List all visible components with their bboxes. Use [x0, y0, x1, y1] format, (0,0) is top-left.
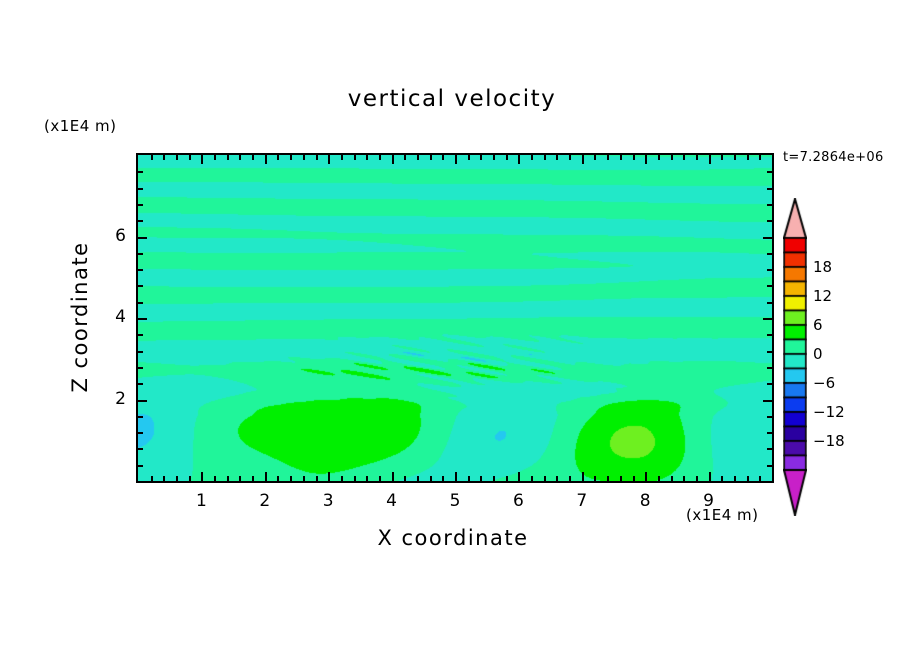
x-minor-tick	[227, 476, 229, 481]
vertical-velocity-field	[138, 155, 772, 481]
x-tick-label: 7	[562, 491, 602, 511]
x-minor-tick-top	[442, 155, 444, 160]
x-minor-tick-top	[163, 155, 165, 160]
y-minor-tick-right	[767, 416, 772, 418]
x-minor-tick-top	[759, 155, 761, 160]
colorbar-tick-label: −12	[813, 403, 845, 421]
x-minor-tick-top	[430, 155, 432, 160]
x-minor-tick-top	[354, 155, 356, 160]
y-minor-tick	[138, 204, 143, 206]
colorbar-tick-label: −6	[813, 374, 835, 392]
y-minor-tick-right	[767, 302, 772, 304]
x-minor-tick	[556, 476, 558, 481]
x-minor-tick	[594, 476, 596, 481]
x-minor-tick	[379, 476, 381, 481]
y-minor-tick	[138, 351, 143, 353]
x-minor-tick-top	[214, 155, 216, 160]
y-minor-tick	[138, 302, 143, 304]
x-axis-unit-label: (x1E4 m)	[686, 506, 759, 524]
x-minor-tick-top	[734, 155, 736, 160]
x-minor-tick	[151, 476, 153, 481]
x-minor-tick-top	[696, 155, 698, 160]
x-minor-tick	[430, 476, 432, 481]
y-minor-tick	[138, 334, 143, 336]
x-minor-tick-top	[607, 155, 609, 160]
x-minor-tick-top	[506, 155, 508, 160]
x-minor-tick	[239, 476, 241, 481]
y-minor-tick	[138, 465, 143, 467]
x-minor-tick	[671, 476, 673, 481]
x-minor-tick-top	[544, 155, 546, 160]
x-minor-tick-top	[658, 155, 660, 160]
x-minor-tick-top	[404, 155, 406, 160]
colorbar[interactable]	[783, 198, 807, 516]
y-minor-tick	[138, 188, 143, 190]
x-minor-tick	[316, 476, 318, 481]
x-minor-tick	[493, 476, 495, 481]
x-tick-label: 2	[245, 491, 285, 511]
x-minor-tick-top	[316, 155, 318, 160]
x-minor-tick-top	[341, 155, 343, 160]
x-minor-tick-top	[290, 155, 292, 160]
x-minor-tick	[721, 476, 723, 481]
x-minor-tick	[404, 476, 406, 481]
x-minor-tick	[569, 476, 571, 481]
x-minor-tick	[354, 476, 356, 481]
x-minor-tick-top	[671, 155, 673, 160]
x-minor-tick	[658, 476, 660, 481]
y-minor-tick	[138, 367, 143, 369]
x-tick-label: 3	[308, 491, 348, 511]
x-minor-tick	[759, 476, 761, 481]
y-minor-tick	[138, 448, 143, 450]
colorbar-tick-label: −18	[813, 432, 845, 450]
y-major-tick-right	[763, 237, 772, 239]
x-minor-tick-top	[277, 155, 279, 160]
colorbar-gradient	[783, 198, 807, 516]
x-tick-label: 5	[435, 491, 475, 511]
y-axis-title: Z coordinate	[68, 207, 92, 427]
x-minor-tick-top	[747, 155, 749, 160]
x-minor-tick	[480, 476, 482, 481]
x-minor-tick	[303, 476, 305, 481]
x-major-tick-top	[265, 155, 267, 164]
x-minor-tick	[366, 476, 368, 481]
y-major-tick	[138, 237, 147, 239]
colorbar-tick-label: 12	[813, 287, 832, 305]
x-major-tick-top	[201, 155, 203, 164]
y-major-tick-right	[763, 318, 772, 320]
x-axis-title: X coordinate	[136, 526, 770, 550]
x-major-tick-top	[645, 155, 647, 164]
y-major-tick	[138, 318, 147, 320]
x-major-tick	[265, 472, 267, 481]
figure-root: vertical velocity (x1E4 m) t=7.2864e+06 …	[0, 0, 904, 654]
x-minor-tick	[176, 476, 178, 481]
x-minor-tick-top	[227, 155, 229, 160]
x-tick-label: 1	[181, 491, 221, 511]
y-tick-label: 4	[86, 307, 126, 327]
x-minor-tick	[290, 476, 292, 481]
x-minor-tick	[620, 476, 622, 481]
x-minor-tick-top	[303, 155, 305, 160]
x-minor-tick-top	[252, 155, 254, 160]
x-minor-tick-top	[151, 155, 153, 160]
y-minor-tick	[138, 432, 143, 434]
x-minor-tick-top	[379, 155, 381, 160]
x-minor-tick-top	[569, 155, 571, 160]
x-minor-tick-top	[493, 155, 495, 160]
x-major-tick	[709, 472, 711, 481]
x-minor-tick-top	[189, 155, 191, 160]
x-major-tick-top	[518, 155, 520, 164]
y-minor-tick-right	[767, 432, 772, 434]
x-minor-tick-top	[531, 155, 533, 160]
x-minor-tick-top	[176, 155, 178, 160]
y-tick-label: 2	[86, 389, 126, 409]
x-minor-tick-top	[594, 155, 596, 160]
y-minor-tick	[138, 416, 143, 418]
x-major-tick	[455, 472, 457, 481]
x-major-tick	[582, 472, 584, 481]
x-minor-tick	[442, 476, 444, 481]
time-annotation: t=7.2864e+06	[783, 150, 884, 165]
x-major-tick	[328, 472, 330, 481]
colorbar-tick-label: 18	[813, 258, 832, 276]
x-major-tick	[645, 472, 647, 481]
y-major-tick-right	[763, 400, 772, 402]
x-major-tick	[201, 472, 203, 481]
x-minor-tick	[417, 476, 419, 481]
x-minor-tick-top	[721, 155, 723, 160]
y-minor-tick-right	[767, 367, 772, 369]
y-minor-tick-right	[767, 204, 772, 206]
y-minor-tick-right	[767, 285, 772, 287]
x-minor-tick-top	[239, 155, 241, 160]
x-minor-tick	[341, 476, 343, 481]
y-minor-tick	[138, 285, 143, 287]
x-minor-tick	[544, 476, 546, 481]
x-minor-tick	[163, 476, 165, 481]
x-minor-tick	[531, 476, 533, 481]
x-minor-tick-top	[620, 155, 622, 160]
x-minor-tick	[214, 476, 216, 481]
y-minor-tick	[138, 220, 143, 222]
x-minor-tick-top	[417, 155, 419, 160]
x-major-tick-top	[582, 155, 584, 164]
y-major-tick	[138, 400, 147, 402]
x-minor-tick	[633, 476, 635, 481]
y-tick-label: 6	[86, 226, 126, 246]
y-minor-tick-right	[767, 220, 772, 222]
x-major-tick	[518, 472, 520, 481]
x-minor-tick-top	[633, 155, 635, 160]
x-major-tick-top	[392, 155, 394, 164]
x-minor-tick	[468, 476, 470, 481]
x-minor-tick-top	[683, 155, 685, 160]
y-minor-tick-right	[767, 334, 772, 336]
contour-plot-area[interactable]	[136, 153, 774, 483]
x-tick-label: 6	[498, 491, 538, 511]
x-minor-tick	[696, 476, 698, 481]
x-minor-tick-top	[468, 155, 470, 160]
x-minor-tick	[252, 476, 254, 481]
y-minor-tick-right	[767, 253, 772, 255]
y-minor-tick-right	[767, 351, 772, 353]
page-title: vertical velocity	[0, 86, 904, 112]
x-tick-label: 8	[625, 491, 665, 511]
colorbar-tick-label: 6	[813, 316, 823, 334]
y-minor-tick-right	[767, 465, 772, 467]
x-minor-tick-top	[480, 155, 482, 160]
y-minor-tick	[138, 383, 143, 385]
x-minor-tick	[189, 476, 191, 481]
y-minor-tick-right	[767, 383, 772, 385]
x-minor-tick-top	[556, 155, 558, 160]
y-minor-tick-right	[767, 448, 772, 450]
x-major-tick-top	[455, 155, 457, 164]
x-minor-tick	[277, 476, 279, 481]
x-minor-tick	[506, 476, 508, 481]
x-major-tick-top	[328, 155, 330, 164]
y-minor-tick-right	[767, 188, 772, 190]
x-major-tick	[392, 472, 394, 481]
x-major-tick-top	[709, 155, 711, 164]
y-minor-tick-right	[767, 171, 772, 173]
y-axis-unit-label: (x1E4 m)	[44, 117, 117, 135]
x-minor-tick-top	[366, 155, 368, 160]
colorbar-tick-label: 0	[813, 345, 823, 363]
x-minor-tick	[747, 476, 749, 481]
y-minor-tick	[138, 171, 143, 173]
x-minor-tick	[607, 476, 609, 481]
y-minor-tick-right	[767, 269, 772, 271]
x-minor-tick	[683, 476, 685, 481]
y-minor-tick	[138, 269, 143, 271]
x-tick-label: 4	[372, 491, 412, 511]
y-minor-tick	[138, 253, 143, 255]
x-minor-tick	[734, 476, 736, 481]
